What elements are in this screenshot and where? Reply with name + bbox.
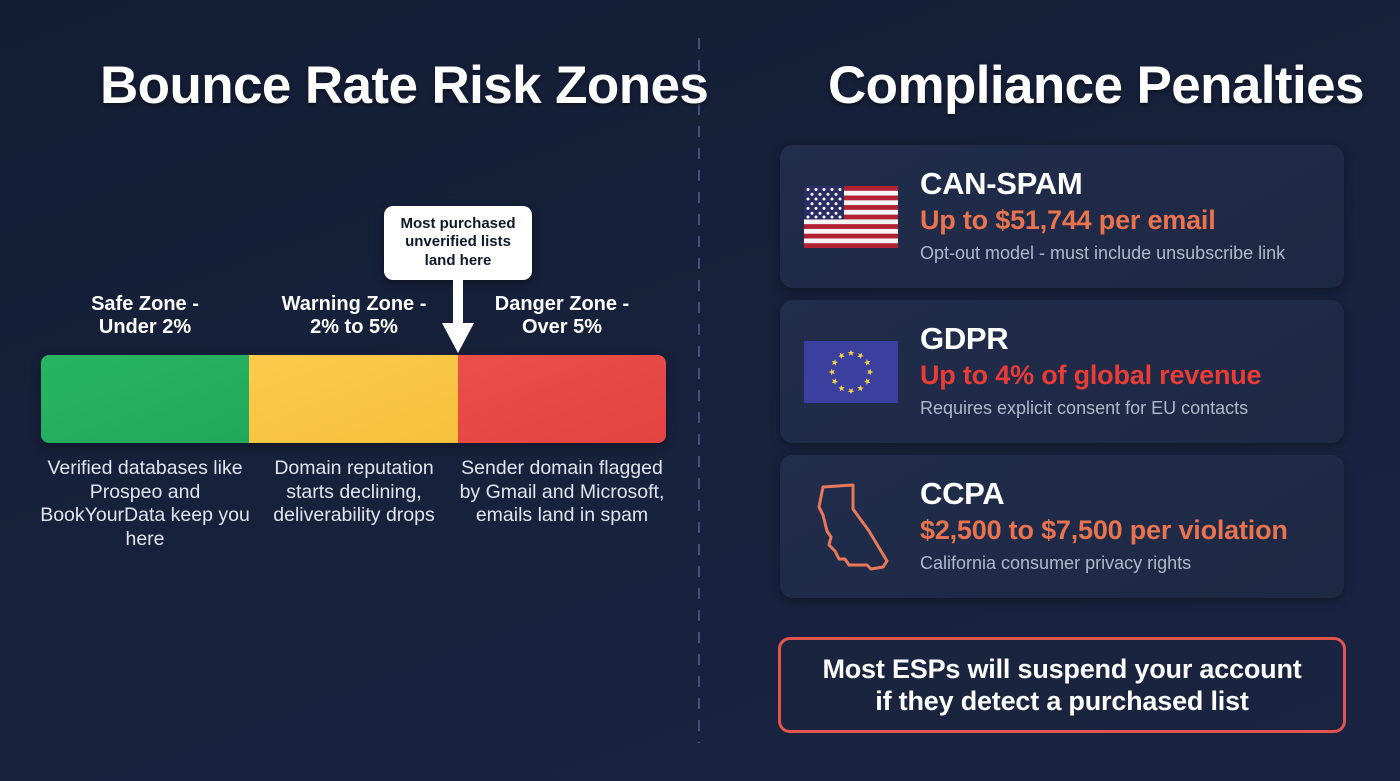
penalty-note: Requires explicit consent for EU contact…: [920, 397, 1328, 420]
risk-bar-segment-safe: [41, 355, 249, 443]
esp-warning-line-1: Most ESPs will suspend your account: [822, 653, 1301, 685]
penalty-card-can-spam: CAN-SPAM Up to $51,744 per email Opt-out…: [780, 145, 1344, 288]
zone-description-warning: Domain reputation starts declining, deli…: [249, 457, 459, 528]
esp-suspension-warning-banner: Most ESPs will suspend your account if t…: [778, 637, 1346, 733]
zone-heading-warning-line2: 2% to 5%: [249, 316, 459, 339]
penalty-note: California consumer privacy rights: [920, 552, 1328, 575]
penalty-note: Opt-out model - must include unsubscribe…: [920, 242, 1328, 265]
us-flag-icon: [804, 185, 898, 249]
penalty-name: CCPA: [920, 477, 1328, 511]
zone-heading-warning-line1: Warning Zone -: [249, 293, 459, 316]
eu-flag-icon: [804, 340, 898, 404]
zone-heading-danger-line1: Danger Zone -: [457, 293, 667, 316]
penalty-card-ccpa-body: CCPA $2,500 to $7,500 per violation Cali…: [920, 477, 1328, 574]
esp-warning-text: Most ESPs will suspend your account if t…: [822, 653, 1301, 718]
penalty-card-can-spam-body: CAN-SPAM Up to $51,744 per email Opt-out…: [920, 167, 1328, 264]
vertical-dashed-divider: [698, 38, 700, 743]
zone-description-safe: Verified databases like Prospeo and Book…: [40, 457, 250, 551]
right-panel-title: Compliance Penalties: [828, 55, 1364, 116]
penalty-card-gdpr: GDPR Up to 4% of global revenue Requires…: [780, 300, 1344, 443]
callout-line-1: Most purchased: [392, 215, 524, 233]
penalty-amount: Up to $51,744 per email: [920, 204, 1328, 238]
penalty-card-ccpa: CCPA $2,500 to $7,500 per violation Cali…: [780, 455, 1344, 598]
zone-heading-danger: Danger Zone - Over 5%: [457, 293, 667, 340]
penalty-amount: $2,500 to $7,500 per violation: [920, 514, 1328, 548]
risk-bar-segment-warning: [249, 355, 457, 443]
risk-zone-bar: [41, 355, 666, 443]
penalty-name: GDPR: [920, 322, 1328, 356]
penalty-name: CAN-SPAM: [920, 167, 1328, 201]
callout-line-2: unverified lists: [392, 233, 524, 251]
infographic-canvas: Bounce Rate Risk Zones Most purchased un…: [0, 0, 1400, 781]
zone-description-danger: Sender domain flagged by Gmail and Micro…: [457, 457, 667, 528]
zone-heading-safe: Safe Zone - Under 2%: [40, 293, 250, 340]
penalty-amount: Up to 4% of global revenue: [920, 359, 1328, 393]
zone-heading-safe-line1: Safe Zone -: [40, 293, 250, 316]
callout-line-3: land here: [392, 252, 524, 270]
penalty-card-gdpr-body: GDPR Up to 4% of global revenue Requires…: [920, 322, 1328, 419]
risk-bar-segment-danger: [458, 355, 666, 443]
callout-bubble: Most purchased unverified lists land her…: [384, 206, 532, 280]
left-panel-title: Bounce Rate Risk Zones: [100, 55, 708, 116]
esp-warning-line-2: if they detect a purchased list: [822, 685, 1301, 717]
zone-heading-safe-line2: Under 2%: [40, 316, 250, 339]
zone-heading-danger-line2: Over 5%: [457, 316, 667, 339]
california-outline-icon: [804, 495, 898, 559]
zone-heading-warning: Warning Zone - 2% to 5%: [249, 293, 459, 340]
